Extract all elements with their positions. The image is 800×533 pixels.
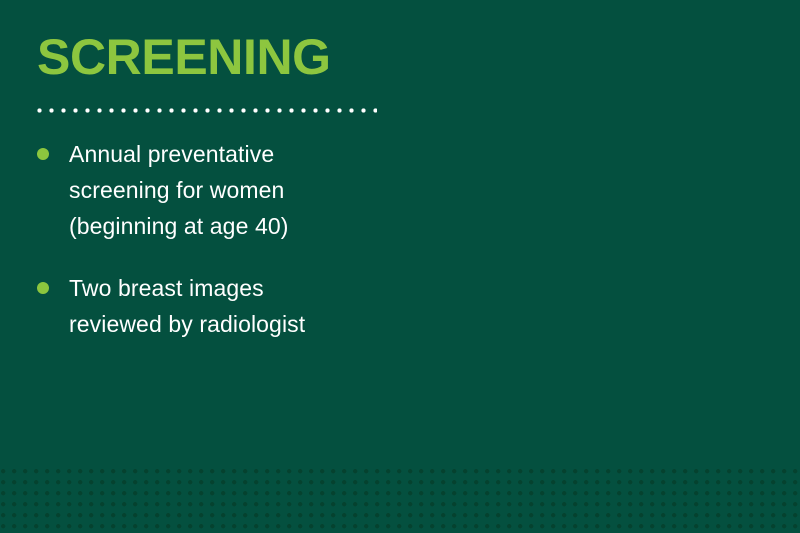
- list-item-text: Annual preventative screening for women …: [69, 136, 377, 244]
- list-item-text: Two breast images reviewed by radiologis…: [69, 270, 377, 342]
- bullet-list-screening: Annual preventative screening for women …: [37, 136, 377, 342]
- dotted-divider-screening: [37, 108, 377, 113]
- list-item: Two breast images reviewed by radiologis…: [37, 270, 377, 342]
- list-item: Annual preventative screening for women …: [37, 136, 377, 244]
- infographic-canvas: SCREENING Annual preventative screening …: [0, 0, 800, 533]
- column-diagnostic: DIAGNOSTIC Performed if a screening mamm…: [396, 0, 800, 533]
- column-screening: SCREENING Annual preventative screening …: [0, 0, 396, 533]
- comparison-columns: SCREENING Annual preventative screening …: [0, 0, 800, 533]
- bullet-dot-icon: [37, 148, 49, 160]
- column-title-screening: SCREENING: [37, 31, 331, 83]
- bullet-dot-icon: [37, 282, 49, 294]
